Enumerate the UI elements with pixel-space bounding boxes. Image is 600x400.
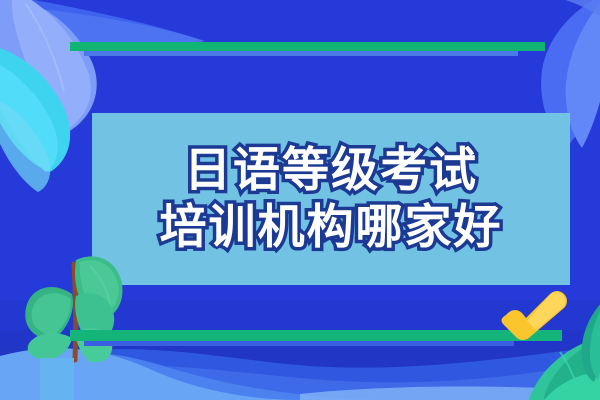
promo-banner: 日语等级考试 培训机构哪家好 (0, 0, 600, 400)
headline-line-1: 日语等级考试 (184, 143, 478, 198)
bottom-green-rule (70, 330, 562, 341)
headline-line-2: 培训机构哪家好 (160, 200, 503, 255)
top-green-rule (70, 42, 545, 51)
checkmark-icon (496, 291, 568, 341)
plant-pot (40, 358, 74, 400)
bottom-rule-shadow (84, 341, 514, 346)
headline-block: 日语等级考试 培训机构哪家好 (92, 113, 570, 285)
